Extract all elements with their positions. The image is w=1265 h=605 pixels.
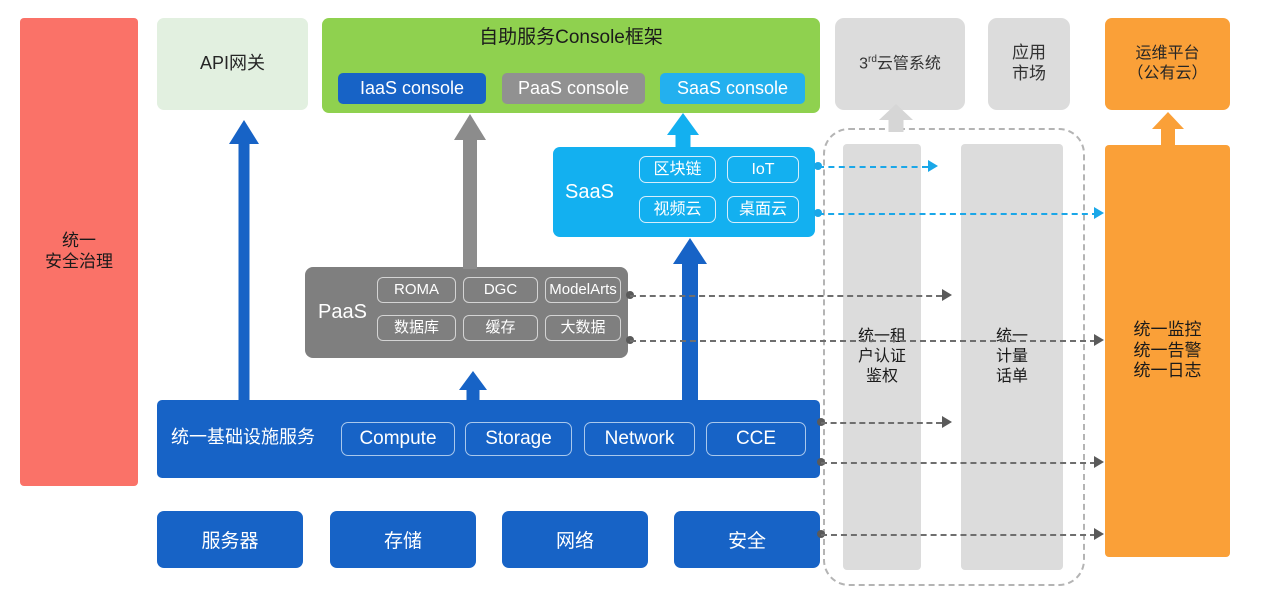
ops-platform-box: 运维平台 （公有云） [1105, 18, 1230, 110]
saas-service-chip[interactable]: 视频云 [639, 196, 716, 223]
paas-label: PaaS [318, 300, 367, 324]
saas-service-chip[interactable]: IoT [727, 156, 799, 183]
saas-label: SaaS [565, 180, 614, 204]
saas-layer-box: SaaS 区块链 IoT 视频云 桌面云 [553, 147, 815, 237]
saas-service-chip[interactable]: 区块链 [639, 156, 716, 183]
connector-saas-to-auth [818, 166, 928, 168]
iaas-console-chip[interactable]: IaaS console [338, 73, 486, 104]
paas-service-chip[interactable]: ROMA [377, 277, 456, 303]
unified-metering-billing-column: 统一 计量 话单 [961, 144, 1063, 570]
paas-service-chip[interactable]: 数据库 [377, 315, 456, 341]
infrastructure-label: 统一基础设施服务 [171, 427, 315, 449]
arrow-up-icon-infra-to-paas [459, 371, 487, 402]
security-governance-panel: 统一 安全治理 [20, 18, 138, 486]
architecture-diagram: 统一 安全治理 API网关 自助服务Console框架 IaaS console… [0, 0, 1265, 605]
app-market-box: 应用 市场 [988, 18, 1070, 110]
connector-paas-to-auth [630, 295, 942, 297]
arrow-head-icon-infra-to-ops [1094, 456, 1104, 468]
infrastructure-chip[interactable]: Storage [465, 422, 572, 456]
paas-service-chip[interactable]: DGC [463, 277, 538, 303]
saas-console-chip[interactable]: SaaS console [660, 73, 805, 104]
paas-service-chip[interactable]: 缓存 [463, 315, 538, 341]
connector-infra-to-auth [821, 422, 942, 424]
arrow-head-icon-paas-to-ops [1094, 334, 1104, 346]
connector-paas-to-ops [630, 340, 1096, 342]
third-party-cloud-box: 3rd云管系统 [835, 18, 965, 110]
hardware-box-security[interactable]: 安全 [674, 511, 820, 568]
infrastructure-chip[interactable]: CCE [706, 422, 806, 456]
arrow-up-icon-infra-to-saas [673, 238, 707, 402]
arrow-head-icon-paas-to-auth [942, 289, 952, 301]
arrow-up-icon-group-to-third-cloud [879, 104, 913, 132]
connector-saas-to-ops [818, 213, 1098, 215]
arrow-up-icon-paas-to-console [454, 114, 486, 269]
hardware-box-server[interactable]: 服务器 [157, 511, 303, 568]
infrastructure-chip[interactable]: Compute [341, 422, 455, 456]
console-framework-box: 自助服务Console框架 IaaS console PaaS console … [322, 18, 820, 113]
paas-service-chip[interactable]: ModelArts [545, 277, 621, 303]
arrow-up-icon-infra-to-api-gateway [229, 120, 259, 402]
paas-service-chip[interactable]: 大数据 [545, 315, 621, 341]
paas-console-chip[interactable]: PaaS console [502, 73, 645, 104]
arrow-head-icon-saas-to-ops [1094, 207, 1104, 219]
paas-layer-box: PaaS ROMA DGC ModelArts 数据库 缓存 大数据 [305, 267, 628, 358]
infrastructure-services-bar: 统一基础设施服务 Compute Storage Network CCE [157, 400, 820, 478]
saas-service-chip[interactable]: 桌面云 [727, 196, 799, 223]
third-party-cloud-label: 3rd云管系统 [859, 54, 941, 74]
ops-monitoring-column: 统一监控 统一告警 统一日志 [1105, 145, 1230, 557]
arrow-head-icon-infra-to-auth [942, 416, 952, 428]
arrow-up-icon-ops-column-to-ops-platform [1152, 112, 1184, 146]
console-framework-title: 自助服务Console框架 [322, 26, 820, 49]
unified-tenant-auth-column: 统一租 户认证 鉴权 [843, 144, 921, 570]
infrastructure-chip[interactable]: Network [584, 422, 695, 456]
hardware-box-storage[interactable]: 存储 [330, 511, 476, 568]
hardware-box-network[interactable]: 网络 [502, 511, 648, 568]
arrow-head-icon-hardware-to-ops [1094, 528, 1104, 540]
connector-hardware-to-ops [821, 534, 1096, 536]
arrow-up-icon-saas-to-console [667, 113, 699, 151]
arrow-head-icon-saas-to-auth [928, 160, 938, 172]
api-gateway-box: API网关 [157, 18, 308, 110]
connector-infra-to-ops [821, 462, 1096, 464]
